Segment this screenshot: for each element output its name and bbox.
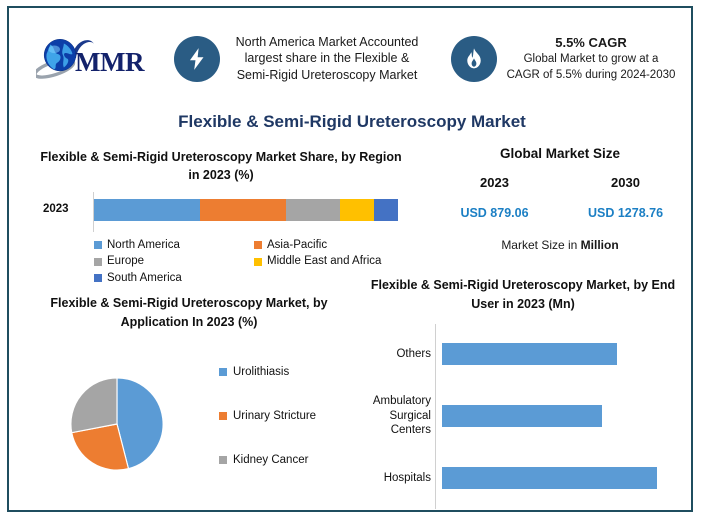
chart-application-share: Flexible & Semi-Rigid Ureteroscopy Marke…	[19, 294, 359, 519]
region-legend-item[interactable]: South America	[94, 271, 254, 285]
region-legend-item[interactable]: Europe	[94, 254, 254, 268]
application-legend: UrolithiasisUrinary StrictureKidney Canc…	[219, 366, 359, 498]
end-user-row: Others	[355, 324, 691, 384]
region-legend-label: South America	[107, 271, 182, 285]
logo-wordmark: MMR	[75, 47, 144, 78]
kpi-cagr-body: Global Market to grow at a CAGR of 5.5% …	[507, 53, 676, 80]
chart-region-share: Flexible & Semi-Rigid Ureteroscopy Marke…	[21, 148, 421, 283]
legend-swatch-icon	[219, 412, 227, 420]
end-user-category-label: Others	[355, 347, 437, 362]
lightning-bolt-icon	[174, 36, 220, 82]
market-size-2023: 2023 USD 879.06	[429, 175, 560, 220]
application-legend-item[interactable]: Urinary Stricture	[219, 410, 359, 422]
kpi-north-america: North America Market Accounted largest s…	[174, 34, 425, 84]
global-market-size-panel: Global Market Size 2023 USD 879.06 2030 …	[429, 146, 691, 252]
global-market-size-years: 2023 USD 879.06 2030 USD 1278.76	[429, 175, 691, 220]
page-title: Flexible & Semi-Rigid Ureteroscopy Marke…	[9, 112, 695, 132]
market-size-unit-value: Million	[581, 238, 619, 252]
market-size-2023-year: 2023	[429, 175, 560, 190]
application-legend-label: Urolithiasis	[233, 366, 289, 378]
region-legend-item[interactable]: North America	[94, 238, 254, 252]
global-market-size-title: Global Market Size	[429, 146, 691, 161]
header-bar: MMR North America Market Accounted large…	[18, 16, 700, 101]
chart-end-user-plot: OthersAmbulatory Surgical CentersHospita…	[355, 324, 691, 514]
legend-swatch-icon	[94, 274, 102, 282]
market-size-2030-value: USD 1278.76	[560, 206, 691, 220]
end-user-row: Ambulatory Surgical Centers	[355, 386, 691, 446]
mmr-logo[interactable]: MMR	[18, 23, 168, 95]
region-segment-0[interactable]	[94, 199, 200, 221]
infographic-page: MMR North America Market Accounted large…	[0, 0, 701, 521]
kpi-cagr-text: 5.5% CAGR Global Market to grow at a CAG…	[506, 34, 676, 83]
chart-region-share-title: Flexible & Semi-Rigid Ureteroscopy Marke…	[21, 148, 421, 184]
kpi-cagr-headline: 5.5% CAGR	[506, 34, 676, 51]
region-legend-item[interactable]: Asia-Pacific	[254, 238, 414, 252]
legend-swatch-icon	[254, 258, 262, 266]
market-size-2023-value: USD 879.06	[429, 206, 560, 220]
market-size-unit-prefix: Market Size in	[501, 238, 580, 252]
region-stacked-bar[interactable]	[94, 199, 398, 221]
application-legend-item[interactable]: Kidney Cancer	[219, 454, 359, 466]
market-size-2030: 2030 USD 1278.76	[560, 175, 691, 220]
application-legend-label: Kidney Cancer	[233, 454, 308, 466]
region-legend-label: North America	[107, 238, 180, 252]
legend-swatch-icon	[94, 258, 102, 266]
region-segment-4[interactable]	[374, 199, 398, 221]
application-legend-label: Urinary Stricture	[233, 410, 316, 422]
region-legend-item[interactable]: Middle East and Africa	[254, 254, 414, 268]
application-legend-item[interactable]: Urolithiasis	[219, 366, 359, 378]
chart-end-user-title: Flexible & Semi-Rigid Ureteroscopy Marke…	[355, 276, 691, 314]
region-segment-1[interactable]	[200, 199, 285, 221]
region-segment-3[interactable]	[340, 199, 373, 221]
legend-swatch-icon	[254, 241, 262, 249]
end-user-row: Hospitals	[355, 448, 691, 508]
end-user-bar[interactable]	[442, 405, 602, 427]
legend-swatch-icon	[94, 241, 102, 249]
flame-icon	[451, 36, 497, 82]
legend-swatch-icon	[219, 368, 227, 376]
region-legend-label: Middle East and Africa	[267, 254, 381, 268]
region-category-label: 2023	[43, 203, 69, 215]
pie-slice-2[interactable]	[71, 378, 117, 433]
market-size-unit-note: Market Size in Million	[429, 238, 691, 252]
region-legend-label: Europe	[107, 254, 144, 268]
region-legend-label: Asia-Pacific	[267, 238, 327, 252]
legend-swatch-icon	[219, 456, 227, 464]
page-frame: MMR North America Market Accounted large…	[7, 6, 693, 512]
chart-end-user: Flexible & Semi-Rigid Ureteroscopy Marke…	[355, 276, 691, 519]
region-segment-2[interactable]	[286, 199, 341, 221]
kpi-cagr: 5.5% CAGR Global Market to grow at a CAG…	[451, 34, 676, 83]
chart-region-share-plot: 2023	[21, 192, 421, 232]
end-user-category-label: Hospitals	[355, 471, 437, 486]
chart-application-share-title: Flexible & Semi-Rigid Ureteroscopy Marke…	[19, 294, 359, 332]
end-user-bar[interactable]	[442, 343, 617, 365]
end-user-bar[interactable]	[442, 467, 657, 489]
end-user-category-label: Ambulatory Surgical Centers	[355, 394, 437, 439]
market-size-2030-year: 2030	[560, 175, 691, 190]
application-pie-chart[interactable]	[69, 376, 165, 472]
kpi-north-america-text: North America Market Accounted largest s…	[229, 34, 425, 84]
